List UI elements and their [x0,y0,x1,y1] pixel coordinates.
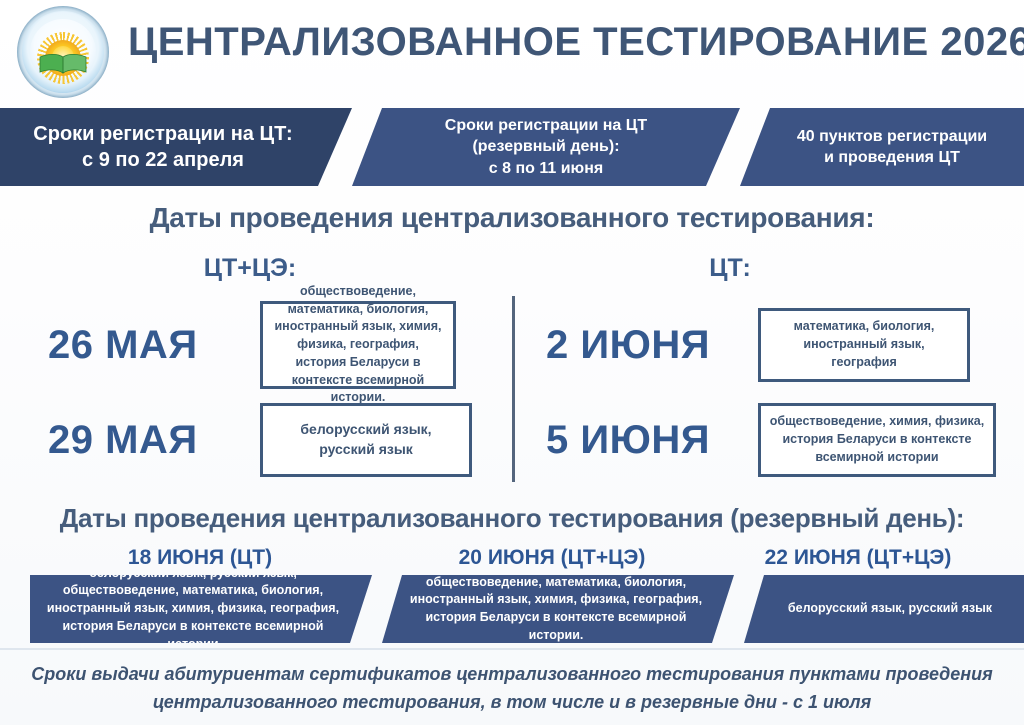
reserve-date-label-22-june: 22 ИЮНЯ (ЦТ+ЦЭ) [708,546,1008,570]
banner-3-line1: 40 пунктов регистрации [797,128,987,145]
reserve-date-label-18-june: 18 ИЮНЯ (ЦТ) [30,546,370,570]
column-divider [512,296,515,482]
banner-registration-points: 40 пунктов регистрации и проведения ЦТ [740,108,1024,186]
banner-3-line2: и проведения ЦТ [824,149,960,166]
column-label-ct-plus-ce: ЦТ+ЦЭ: [130,254,370,283]
date-label-2-june: 2 ИЮНЯ [546,323,758,368]
banner-2-line1: Сроки регистрации на ЦТ [445,117,647,134]
banner-1-line2: с 9 по 22 апреля [82,149,244,171]
date-label-26-may: 26 МАЯ [48,323,260,368]
banner-registration-reserve-dates: Сроки регистрации на ЦТ (резервный день)… [352,108,740,186]
banner-2-line2: (резервный день): [472,138,619,155]
date-row-2-june: 2 ИЮНЯ математика, биология, иностранный… [546,300,1008,390]
banner-2-line3: с 8 по 11 июня [489,160,603,177]
reserve-subject-box-18-june: белорусский язык, русский язык, общество… [30,575,372,643]
banner-registration-dates: Сроки регистрации на ЦТ: с 9 по 22 апрел… [0,108,352,186]
page-title: ЦЕНТРАЛИЗОВАННОЕ ТЕСТИРОВАНИЕ 2026 [128,22,1008,62]
reserve-subject-box-22-june: белорусский язык, русский язык [744,575,1024,643]
date-label-29-may: 29 МАЯ [48,418,260,463]
banner-2-text: Сроки регистрации на ЦТ (резервный день)… [435,115,657,178]
banner-1-text: Сроки регистрации на ЦТ: с 9 по 22 апрел… [23,121,302,174]
date-label-5-june: 5 ИЮНЯ [546,418,758,463]
date-row-5-june: 5 ИЮНЯ обществоведение, химия, физика, и… [546,398,1008,482]
footer-note: Сроки выдачи абитуриентам сертификатов ц… [0,652,1024,725]
emblem-inner-disc [30,19,96,85]
banner-3-text: 40 пунктов регистрации и проведения ЦТ [787,126,997,168]
reserve-section-heading: Даты проведения централизованного тестир… [0,503,1024,534]
banner-row: Сроки регистрации на ЦТ: с 9 по 22 апрел… [0,108,1024,186]
header: ЦЕНТРАЛИЗОВАННОЕ ТЕСТИРОВАНИЕ 2026 [0,0,1024,104]
subject-box-26-may: обществоведение, математика, биология, и… [260,301,456,389]
date-row-26-may: 26 МАЯ обществоведение, математика, биол… [48,300,498,390]
date-row-29-may: 29 МАЯ белорусский язык, русский язык [48,398,498,482]
footer-divider [0,648,1024,650]
subject-box-29-may: белорусский язык, русский язык [260,403,472,477]
subject-box-2-june: математика, биология, иностранный язык, … [758,308,970,382]
banner-1-line1: Сроки регистрации на ЦТ: [33,123,292,145]
reserve-date-label-20-june: 20 ИЮНЯ (ЦТ+ЦЭ) [382,546,722,570]
main-section-heading: Даты проведения централизованного тестир… [0,202,1024,234]
subject-box-5-june: обществоведение, химия, физика, история … [758,403,996,477]
column-label-ct: ЦТ: [640,254,820,283]
emblem-open-book-icon [39,53,87,75]
poster-root: ЦЕНТРАЛИЗОВАННОЕ ТЕСТИРОВАНИЕ 2026 Сроки… [0,0,1024,725]
reserve-subject-box-20-june: обществоведение, математика, биология, и… [382,575,734,643]
ministry-emblem-icon [17,6,109,98]
